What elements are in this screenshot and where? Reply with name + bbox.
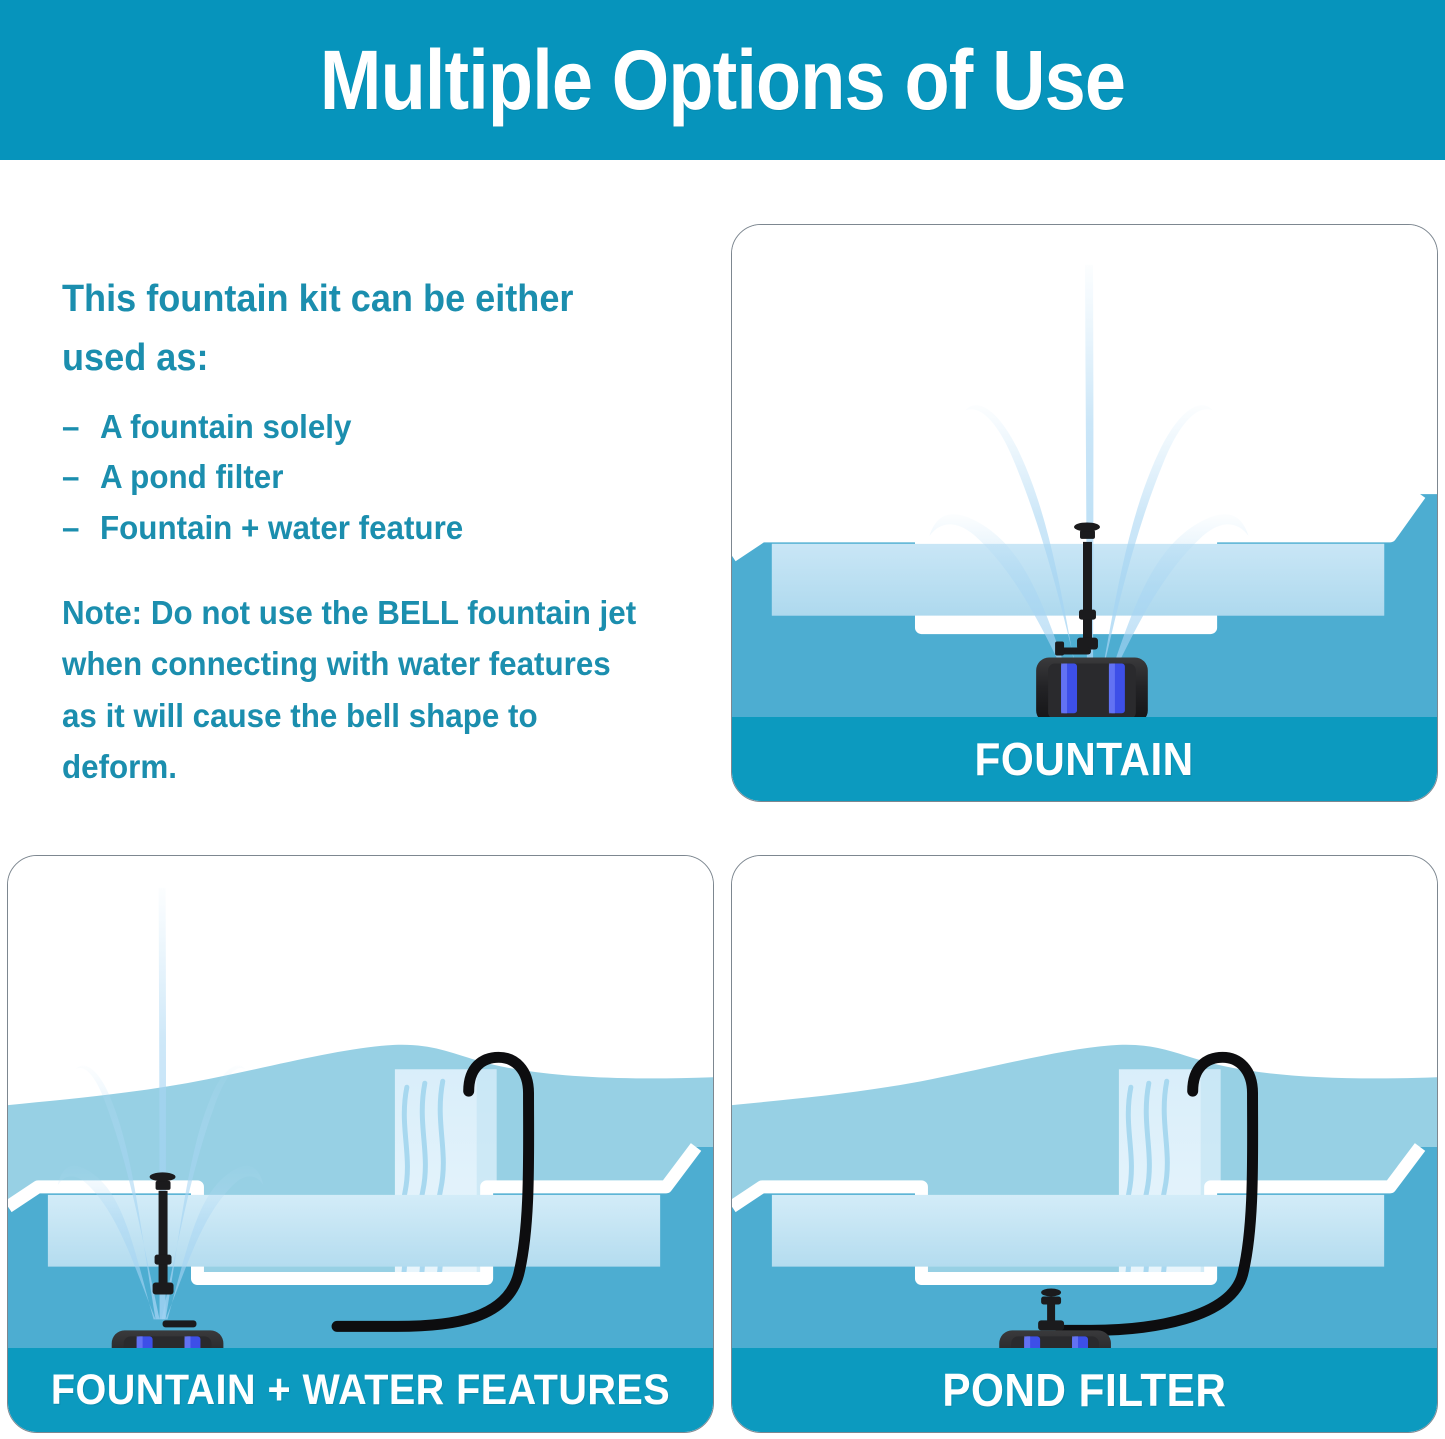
option-card-fountain: FOUNTAIN [731,224,1438,802]
bullet-dash-icon: – [62,402,100,452]
list-item-label: A fountain solely [100,402,351,452]
list-item-label: Fountain + water feature [100,503,463,553]
note-text: Note: Do not use the BELL fountain jet w… [62,587,651,792]
list-item-label: A pond filter [100,452,283,502]
fountain-water-features-illustration [8,856,713,1432]
card-label-text: FOUNTAIN [975,732,1194,786]
list-item: – A fountain solely [62,402,651,452]
card-label-text: POND FILTER [942,1363,1226,1417]
list-item: – A pond filter [62,452,651,502]
pond-filter-illustration [732,856,1437,1432]
bullet-dash-icon: – [62,452,100,502]
option-card-pond-filter: POND FILTER [731,855,1438,1433]
description-column: This fountain kit can be either used as:… [62,270,682,792]
page-header: Multiple Options of Use [0,0,1445,160]
fountain-illustration [732,225,1437,801]
option-card-fountain-water-features: FOUNTAIN + WATER FEATURES [7,855,714,1433]
card-label-bar: POND FILTER [732,1348,1437,1432]
card-label-text: FOUNTAIN + WATER FEATURES [51,1366,670,1415]
bullet-dash-icon: – [62,503,100,553]
card-label-bar: FOUNTAIN [732,717,1437,801]
intro-text: This fountain kit can be either used as: [62,270,651,388]
usage-list: – A fountain solely – A pond filter – Fo… [62,402,682,553]
list-item: – Fountain + water feature [62,503,651,553]
page-title: Multiple Options of Use [320,32,1125,129]
card-label-bar: FOUNTAIN + WATER FEATURES [8,1348,713,1432]
